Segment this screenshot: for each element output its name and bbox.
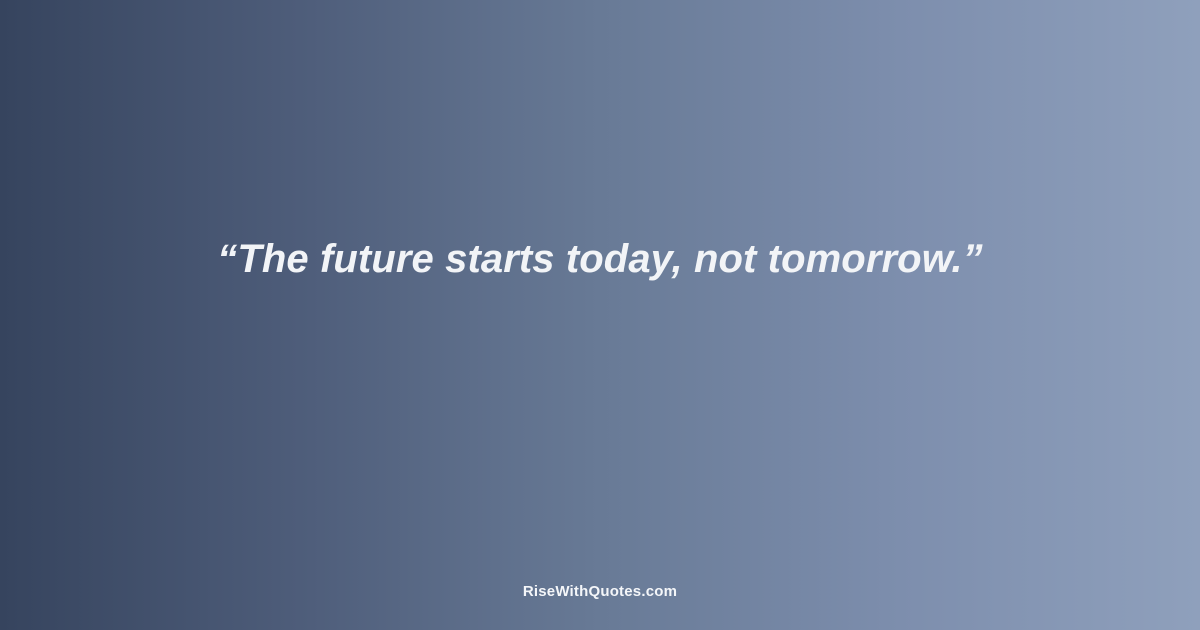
quote-text: “The future starts today, not tomorrow.” [0, 231, 1200, 287]
quote-card: “The future starts today, not tomorrow.”… [0, 0, 1200, 630]
brand-footer: RiseWithQuotes.com [0, 581, 1200, 603]
